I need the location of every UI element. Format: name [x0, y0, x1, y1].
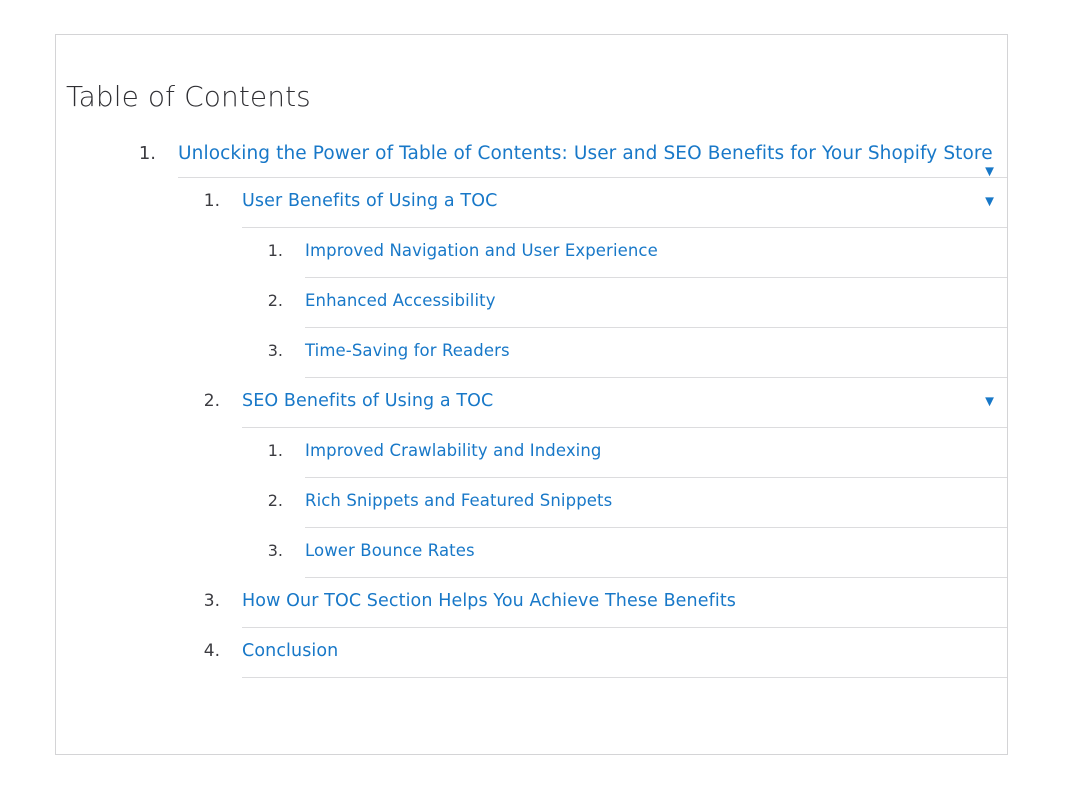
toc-item: 1.Improved Crawlability and Indexing	[263, 428, 1007, 478]
toc-item: 1.User Benefits of Using a TOC▼1.Improve…	[199, 178, 1007, 378]
toc-row: 1.Unlocking the Power of Table of Conten…	[134, 135, 1007, 178]
toc-item-number: 2.	[199, 378, 220, 424]
toc-link[interactable]: User Benefits of Using a TOC	[242, 191, 497, 211]
table-of-contents-card: Table of Contents 1.Unlocking the Power …	[55, 34, 1008, 755]
toc-item: 1.Improved Navigation and User Experienc…	[263, 228, 1007, 278]
toc-link[interactable]: Time-Saving for Readers	[305, 341, 510, 360]
toc-item-number: 3.	[263, 528, 283, 574]
toc-link[interactable]: Unlocking the Power of Table of Contents…	[178, 143, 993, 164]
chevron-down-icon[interactable]: ▼	[982, 164, 997, 179]
toc-link-container: User Benefits of Using a TOC	[242, 178, 1007, 228]
toc-item-number: 2.	[263, 278, 283, 324]
toc-item: 4.Conclusion	[199, 628, 1007, 678]
page-title: Table of Contents	[56, 35, 1007, 114]
toc-link-container: Improved Crawlability and Indexing	[305, 428, 1007, 478]
toc-row: 2.SEO Benefits of Using a TOC▼	[199, 378, 1007, 428]
toc-link-container: Rich Snippets and Featured Snippets	[305, 478, 1007, 528]
toc-row: 3.Time-Saving for Readers	[263, 328, 1007, 378]
toc-item: 3.How Our TOC Section Helps You Achieve …	[199, 578, 1007, 628]
toc-item: 2.SEO Benefits of Using a TOC▼1.Improved…	[199, 378, 1007, 578]
toc-row: 1.Improved Crawlability and Indexing	[263, 428, 1007, 478]
chevron-down-icon[interactable]: ▼	[982, 394, 997, 409]
toc-link[interactable]: Lower Bounce Rates	[305, 541, 475, 560]
toc-item-number: 1.	[134, 135, 156, 172]
page-root: Table of Contents 1.Unlocking the Power …	[0, 0, 1067, 800]
toc-item: 3.Lower Bounce Rates	[263, 528, 1007, 578]
toc-row: 1.User Benefits of Using a TOC▼	[199, 178, 1007, 228]
toc-link-container: Enhanced Accessibility	[305, 278, 1007, 328]
toc-list-level-3: 1.Improved Crawlability and Indexing2.Ri…	[199, 428, 1007, 578]
toc-link-container: Unlocking the Power of Table of Contents…	[178, 135, 1007, 178]
toc-item: 2.Enhanced Accessibility	[263, 278, 1007, 328]
toc-item-number: 1.	[263, 428, 283, 474]
toc-link-container: SEO Benefits of Using a TOC	[242, 378, 1007, 428]
toc-link[interactable]: Enhanced Accessibility	[305, 291, 496, 310]
chevron-down-icon[interactable]: ▼	[982, 194, 997, 209]
toc-item-number: 4.	[199, 628, 220, 674]
toc-item: 1.Unlocking the Power of Table of Conten…	[134, 135, 1007, 678]
toc-item-number: 1.	[199, 178, 220, 224]
toc-row: 2.Rich Snippets and Featured Snippets	[263, 478, 1007, 528]
toc-link[interactable]: Conclusion	[242, 641, 338, 661]
toc-list-level-1: 1.Unlocking the Power of Table of Conten…	[56, 135, 1007, 678]
toc-link[interactable]: How Our TOC Section Helps You Achieve Th…	[242, 591, 736, 611]
toc-item-number: 3.	[263, 328, 283, 374]
toc-row: 3.Lower Bounce Rates	[263, 528, 1007, 578]
toc-list-level-3: 1.Improved Navigation and User Experienc…	[199, 228, 1007, 378]
toc-row: 4.Conclusion	[199, 628, 1007, 678]
toc-link-container: Conclusion	[242, 628, 1007, 678]
toc-link[interactable]: Improved Crawlability and Indexing	[305, 441, 602, 460]
toc-item: 3.Time-Saving for Readers	[263, 328, 1007, 378]
toc-row: 2.Enhanced Accessibility	[263, 278, 1007, 328]
toc-link-container: Lower Bounce Rates	[305, 528, 1007, 578]
toc-link-container: Time-Saving for Readers	[305, 328, 1007, 378]
toc-row: 1.Improved Navigation and User Experienc…	[263, 228, 1007, 278]
toc-link[interactable]: SEO Benefits of Using a TOC	[242, 391, 493, 411]
toc-link[interactable]: Improved Navigation and User Experience	[305, 241, 658, 260]
toc-link-container: How Our TOC Section Helps You Achieve Th…	[242, 578, 1007, 628]
toc-list-level-2: 1.User Benefits of Using a TOC▼1.Improve…	[134, 178, 1007, 678]
toc-item-number: 3.	[199, 578, 220, 624]
toc-row: 3.How Our TOC Section Helps You Achieve …	[199, 578, 1007, 628]
toc-item: 2.Rich Snippets and Featured Snippets	[263, 478, 1007, 528]
toc-item-number: 2.	[263, 478, 283, 524]
toc-item-number: 1.	[263, 228, 283, 274]
toc-link[interactable]: Rich Snippets and Featured Snippets	[305, 491, 612, 510]
toc-link-container: Improved Navigation and User Experience	[305, 228, 1007, 278]
